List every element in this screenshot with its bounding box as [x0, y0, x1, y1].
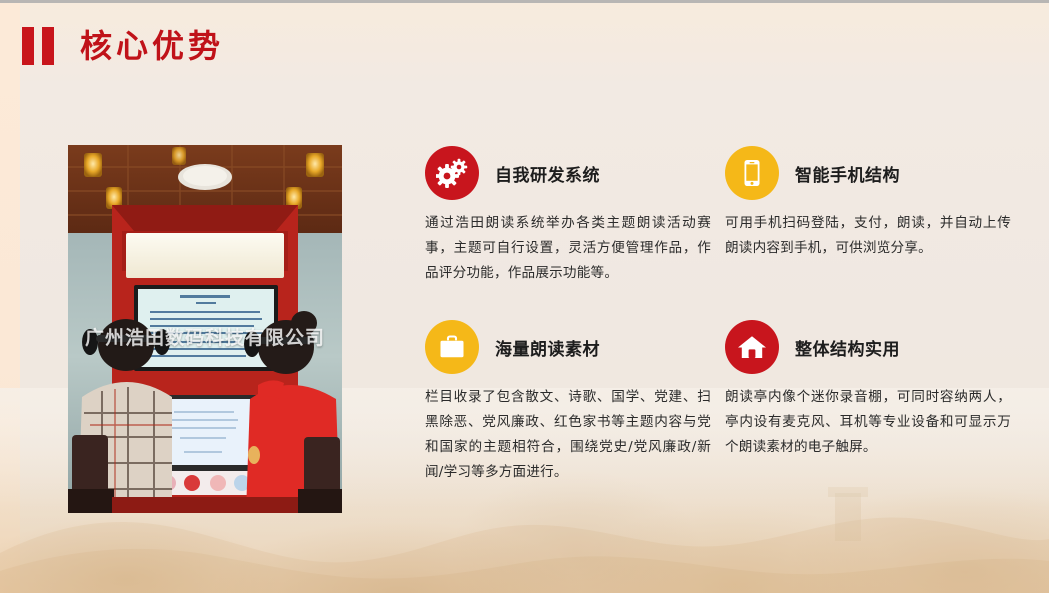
page-title: 核心优势 [22, 23, 224, 69]
feature-header: 海量朗读素材 [425, 320, 711, 374]
feature-title: 自我研发系统 [495, 161, 600, 186]
reading-booth-photo: 广州浩田数码科技有限公司 [68, 145, 342, 513]
feature-body: 可用手机扫码登陆，支付，朗读，并自动上传朗读内容到手机，可供浏览分享。 [725, 211, 1011, 261]
page-title-text: 核心优势 [80, 30, 224, 62]
feature-body: 朗读亭内像个迷你录音棚，可同时容纳两人，亭内设有麦克风、耳机等专业设备和可显示万… [725, 385, 1011, 460]
title-bar-icon [22, 27, 34, 65]
home-icon-glyph [736, 331, 768, 363]
feature-body: 栏目收录了包含散文、诗歌、国学、党建、扫黑除恶、党风廉政、红色家书等主题内容与党… [425, 385, 711, 485]
slide-root: 核心优势 [0, 0, 1049, 593]
feature-card: 整体结构实用 朗读亭内像个迷你录音棚，可同时容纳两人，亭内设有麦克风、耳机等专业… [725, 320, 1011, 485]
feature-title: 海量朗读素材 [495, 335, 600, 360]
briefcase-icon-glyph [436, 331, 468, 363]
smartphone-icon [725, 146, 779, 200]
feature-card: 智能手机结构 可用手机扫码登陆，支付，朗读，并自动上传朗读内容到手机，可供浏览分… [725, 146, 1011, 286]
title-bars-decoration [22, 27, 54, 65]
gears-icon [425, 146, 479, 200]
feature-header: 智能手机结构 [725, 146, 1011, 200]
title-bar-icon [42, 27, 54, 65]
feature-header: 整体结构实用 [725, 320, 1011, 374]
booth-photo-illustration [68, 145, 342, 513]
feature-grid: 自我研发系统 通过浩田朗读系统举办各类主题朗读活动赛事，主题可自行设置，灵活方便… [425, 146, 1029, 485]
feature-body: 通过浩田朗读系统举办各类主题朗读活动赛事，主题可自行设置，灵活方便管理作品，作品… [425, 211, 711, 286]
home-icon [725, 320, 779, 374]
smartphone-icon-glyph [736, 157, 768, 189]
feature-title: 整体结构实用 [795, 335, 900, 360]
feature-card: 海量朗读素材 栏目收录了包含散文、诗歌、国学、党建、扫黑除恶、党风廉政、红色家书… [425, 320, 711, 485]
gears-icon-glyph [436, 157, 468, 189]
feature-title: 智能手机结构 [795, 161, 900, 186]
briefcase-icon [425, 320, 479, 374]
feature-header: 自我研发系统 [425, 146, 711, 200]
feature-card: 自我研发系统 通过浩田朗读系统举办各类主题朗读活动赛事，主题可自行设置，灵活方便… [425, 146, 711, 286]
